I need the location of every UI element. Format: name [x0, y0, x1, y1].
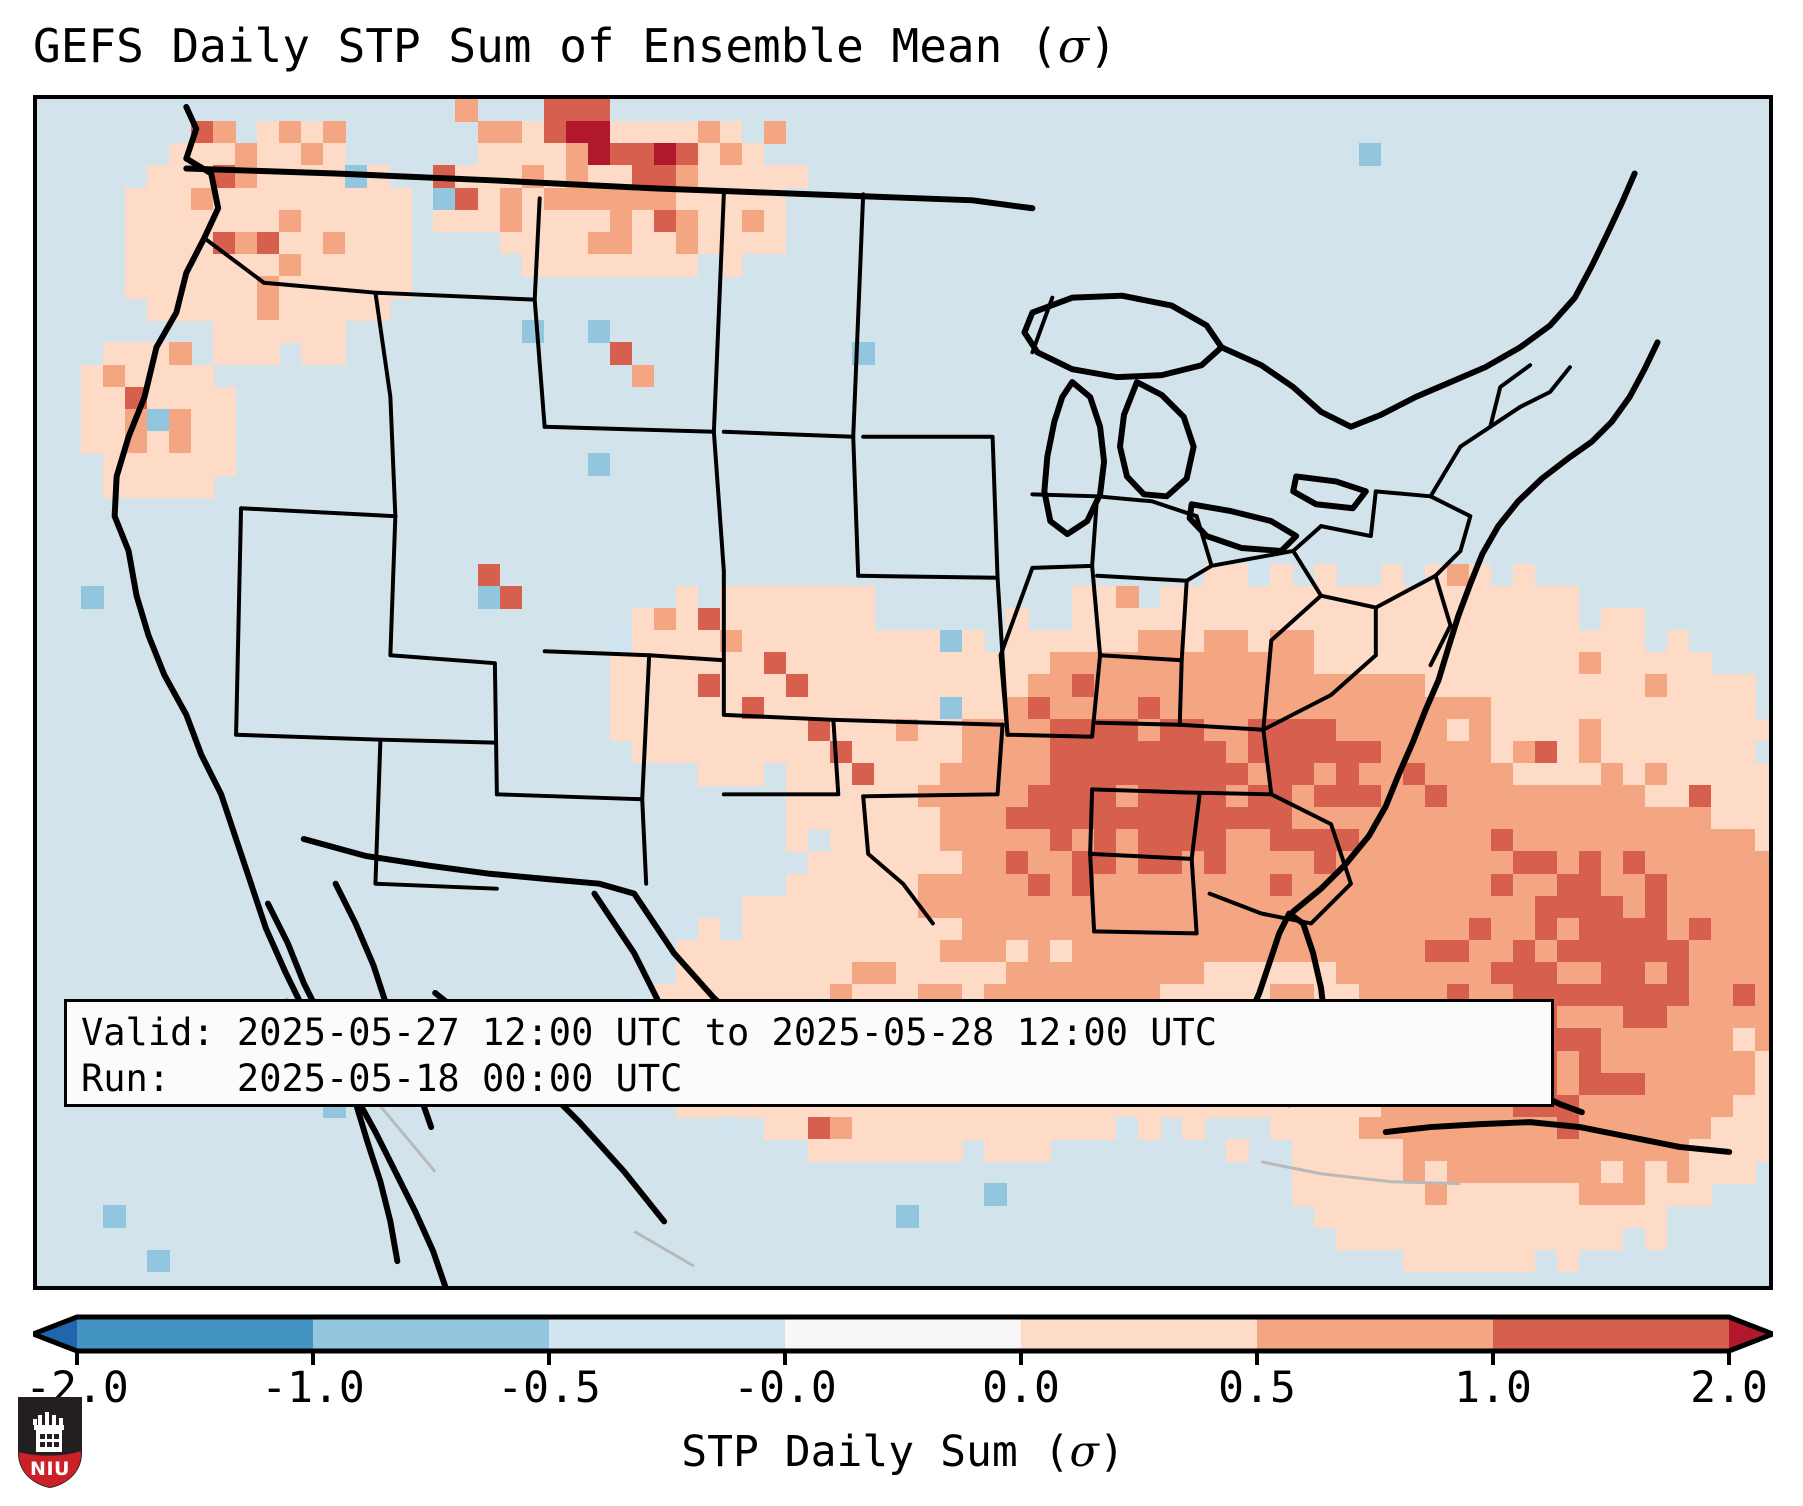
colorbar-band — [1493, 1317, 1730, 1351]
border-canada-east — [1222, 173, 1635, 426]
colorbar-tick-label: -0.5 — [497, 1362, 601, 1414]
coastline-lake-huron — [1120, 382, 1194, 496]
figure-canvas: GEFS Daily STP Sum of Ensemble Mean (σ) — [0, 0, 1803, 1506]
title-prefix: GEFS Daily STP Sum of Ensemble Mean ( — [33, 19, 1058, 73]
annotation-valid-line: Valid: 2025-05-27 12:00 UTC to 2025-05-2… — [81, 1010, 1537, 1056]
niu-logo-svg: NIU — [14, 1395, 86, 1490]
colorbar-label-suffix: ) — [1099, 1427, 1125, 1477]
title-suffix: ) — [1089, 19, 1117, 73]
colorbar-band — [549, 1317, 786, 1351]
map-plot-area[interactable]: Valid: 2025-05-27 12:00 UTC to 2025-05-2… — [33, 95, 1773, 1290]
title-sigma-symbol: σ — [1058, 19, 1089, 73]
colorbar-tick-label: -1.0 — [261, 1362, 365, 1414]
colorbar-axis-label: STP Daily Sum (σ) — [33, 1424, 1773, 1480]
border-usa-canada — [186, 169, 1032, 209]
map-inner: Valid: 2025-05-27 12:00 UTC to 2025-05-2… — [37, 99, 1769, 1286]
colorbar-band — [77, 1317, 314, 1351]
colorbar-tick-label: 0.5 — [1218, 1362, 1296, 1414]
colorbar-svg[interactable] — [33, 1313, 1773, 1365]
colorbar-band — [1257, 1317, 1494, 1351]
colorbar-band — [1021, 1317, 1258, 1351]
state-boundaries — [204, 194, 1570, 933]
colorbar-band — [785, 1317, 1022, 1351]
coastline-lake-ontario — [1293, 476, 1366, 508]
colorbar-tick-label: -0.0 — [733, 1362, 837, 1414]
annotation-textbox: Valid: 2025-05-27 12:00 UTC to 2025-05-2… — [64, 999, 1554, 1107]
coastline-lake-superior — [1024, 296, 1221, 377]
page-title: GEFS Daily STP Sum of Ensemble Mean (σ) — [33, 16, 1773, 76]
colorbar-band — [313, 1317, 550, 1351]
colorbar-bands — [33, 1317, 1773, 1351]
geography-svg — [37, 99, 1769, 1286]
annotation-run-line: Run: 2025-05-18 00:00 UTC — [81, 1056, 1537, 1102]
colorbar-label-prefix: STP Daily Sum ( — [681, 1427, 1069, 1477]
logo-text: NIU — [30, 1458, 70, 1480]
colorbar-label-sigma: σ — [1070, 1427, 1099, 1477]
colorbar-tick-label: 1.0 — [1454, 1362, 1532, 1414]
colorbar-tick-label: 2.0 — [1690, 1362, 1768, 1414]
niu-logo: NIU — [14, 1395, 86, 1490]
coastline-cuba — [1386, 1122, 1729, 1152]
geography-layer — [37, 99, 1769, 1286]
colorbar-tick-labels: -2.0-1.0-0.5-0.00.00.51.02.0 — [33, 1362, 1773, 1422]
colorbar-tick-label: 0.0 — [982, 1362, 1060, 1414]
